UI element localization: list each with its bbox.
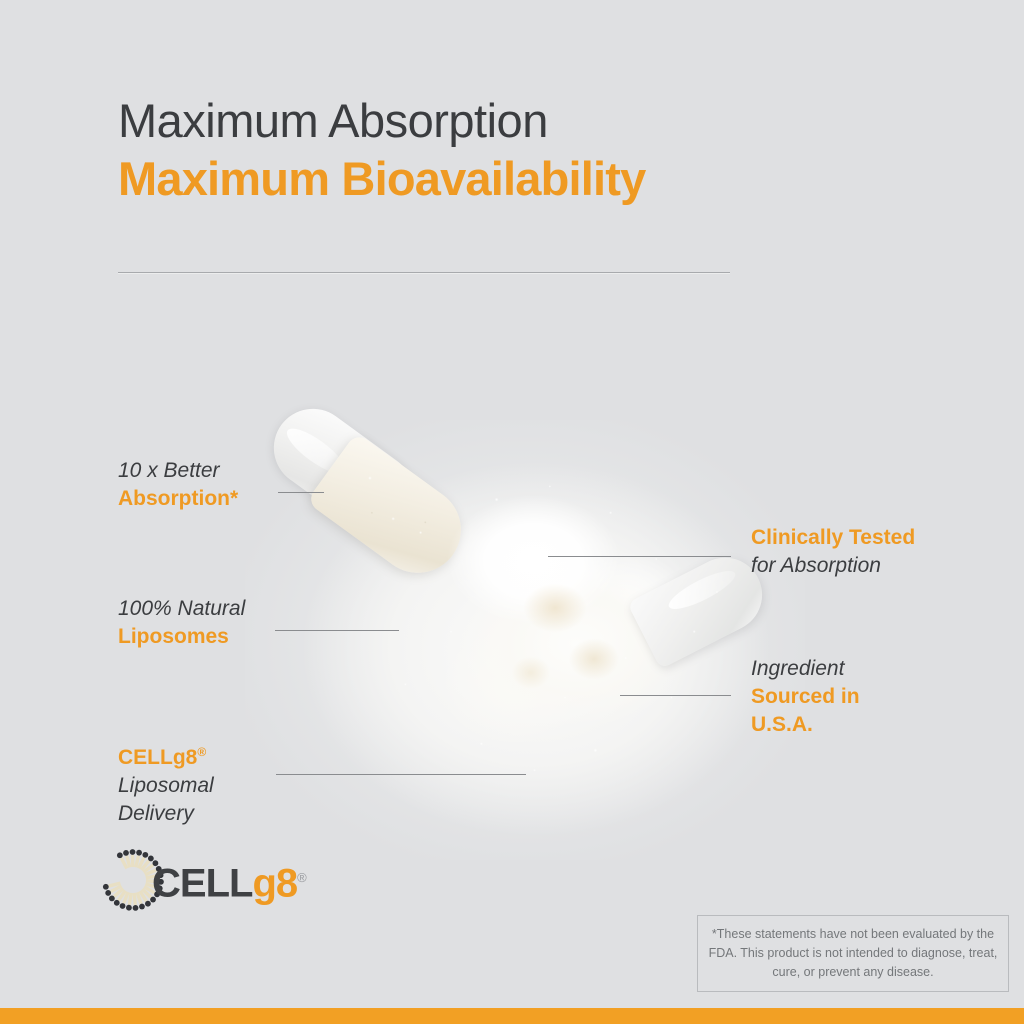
cellg8-word: CELLg8 <box>118 746 197 769</box>
callout-orange-line-2: U.S.A. <box>751 711 860 739</box>
callout-ingredient-sourced-usa: Ingredient Sourced in U.S.A. <box>751 655 860 739</box>
cellg8-logo-wordmark: CELLg8® <box>152 855 306 906</box>
logo-cell-text: CELL <box>152 861 252 905</box>
registered-mark: ® <box>197 745 206 759</box>
headline-line-1: Maximum Absorption <box>118 92 818 150</box>
callout-natural-liposomes: 100% Natural Liposomes <box>118 595 245 651</box>
callout-clinically-tested: Clinically Tested for Absorption <box>751 524 915 580</box>
callout-dark-line: Ingredient <box>751 655 860 683</box>
callout-dark-line: for Absorption <box>751 552 915 580</box>
logo-registered-mark: ® <box>297 870 306 885</box>
callout-cellg8-liposomal-delivery: CELLg8® Liposomal Delivery <box>118 738 214 828</box>
callout-dark-line-2: Delivery <box>118 800 214 828</box>
callout-orange-line: Liposomes <box>118 623 245 651</box>
leader-line-absorption <box>278 492 324 493</box>
cellg8-logo: {} CELLg8® <box>100 845 300 915</box>
headline-block: Maximum Absorption Maximum Bioavailabili… <box>118 92 818 208</box>
callout-dark-line: 100% Natural <box>118 595 245 623</box>
callout-orange-line: Absorption* <box>118 485 238 513</box>
product-photo <box>245 420 805 860</box>
fda-disclaimer-box: *These statements have not been evaluate… <box>697 915 1009 992</box>
powder-scatter-grains <box>375 460 755 790</box>
leader-line-clinically-tested <box>548 556 731 557</box>
fda-disclaimer-text: *These statements have not been evaluate… <box>698 925 1008 982</box>
callout-ten-x-better-absorption: 10 x Better Absorption* <box>118 457 238 513</box>
bottom-accent-bar <box>0 1008 1024 1024</box>
headline-line-2: Maximum Bioavailability <box>118 150 818 208</box>
leader-line-cellg8 <box>276 774 526 775</box>
logo-g8-text: g8 <box>252 861 297 905</box>
callout-dark-line-1: Liposomal <box>118 772 214 800</box>
leader-line-sourced-usa <box>620 695 731 696</box>
callout-orange-line: CELLg8® <box>118 738 214 772</box>
callout-orange-line-1: Sourced in <box>751 683 860 711</box>
headline-divider <box>118 272 730 274</box>
callout-dark-line: 10 x Better <box>118 457 238 485</box>
callout-orange-line: Clinically Tested <box>751 524 915 552</box>
leader-line-liposomes <box>275 630 399 631</box>
